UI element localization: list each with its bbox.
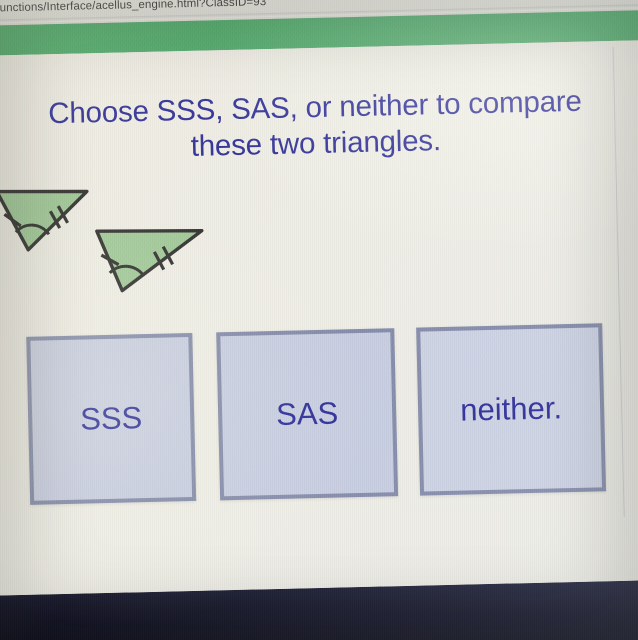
triangle-2-single-tick [101, 255, 118, 265]
answer-button-sss[interactable]: SSS [26, 333, 196, 505]
answer-button-sss-label: SSS [80, 400, 143, 437]
triangle-2-double-tick-b [163, 246, 172, 264]
triangle-2-double-tick-a [154, 252, 163, 270]
answer-button-sas-label: SAS [276, 396, 339, 433]
address-bar-url-text[interactable]: Functions/Interface/acellus_engine.html?… [0, 0, 266, 15]
triangle-2-shape [97, 229, 203, 291]
photo-of-monitor: Functions/Interface/acellus_engine.html?… [0, 0, 638, 640]
triangle-1-shape [0, 189, 88, 250]
triangle-2 [97, 229, 203, 291]
triangle-1-double-tick-a [50, 211, 59, 228]
triangle-1-double-tick-b [58, 206, 67, 223]
triangle-1-single-tick [4, 214, 20, 226]
triangle-1 [0, 189, 88, 250]
question-prompt: Choose SSS, SAS, or neither to compare t… [3, 83, 629, 170]
lesson-content-area: Choose SSS, SAS, or neither to compare t… [0, 39, 638, 595]
screen-surface: Functions/Interface/acellus_engine.html?… [0, 0, 638, 596]
triangle-1-angle-arc [16, 225, 49, 235]
answer-button-neither-label: neither. [460, 390, 563, 428]
triangle-2-angle-arc [110, 266, 144, 277]
answer-button-sas[interactable]: SAS [216, 328, 398, 500]
answer-button-neither[interactable]: neither. [416, 323, 606, 495]
answer-choices: SSS SAS neither. [26, 322, 638, 517]
